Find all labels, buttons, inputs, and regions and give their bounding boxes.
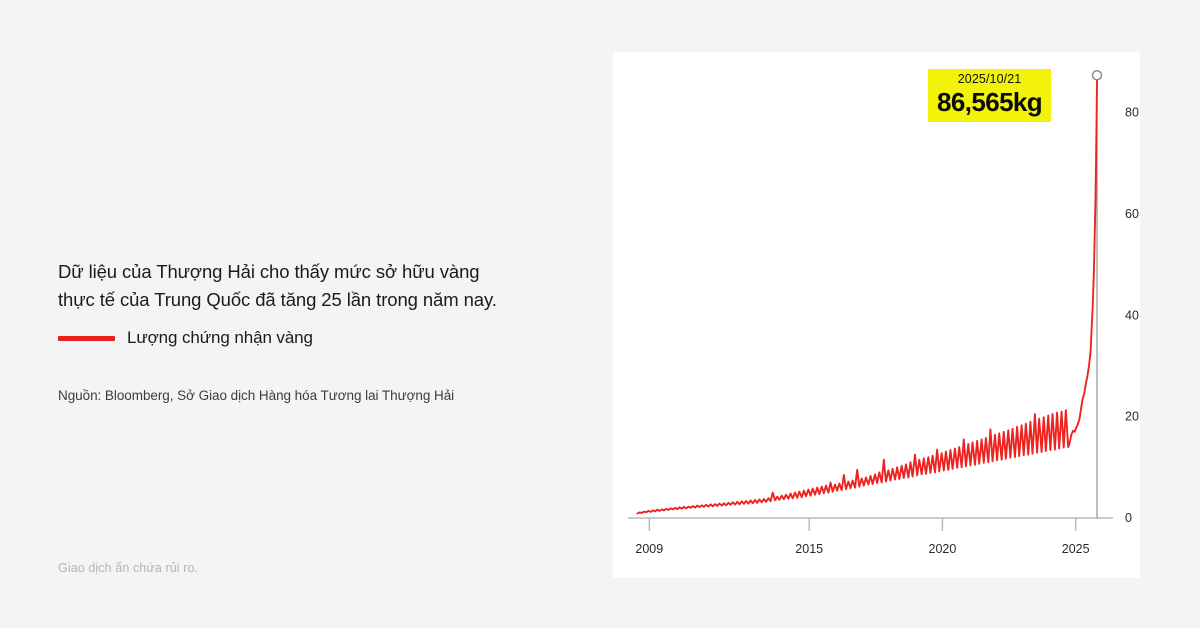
y-axis-tick-label: 40,000 xyxy=(1125,308,1140,322)
x-axis-tick-label: 2020 xyxy=(929,542,957,556)
series-gold-certificates xyxy=(637,79,1097,513)
headline-line-1: Dữ liệu của Thượng Hải cho thấy mức sở h… xyxy=(58,258,588,286)
y-axis-labels: 80,000kg60,00040,00020,0000 xyxy=(1125,106,1140,525)
chart-legend: Lượng chứng nhận vàng xyxy=(58,328,313,348)
x-axis-tick-label: 2009 xyxy=(635,542,663,556)
text-column: Dữ liệu của Thượng Hải cho thấy mức sở h… xyxy=(58,0,598,628)
legend-swatch-icon xyxy=(58,336,115,341)
chart-panel: 2009201520202025 80,000kg60,00040,00020,… xyxy=(613,52,1140,578)
latest-data-point-marker xyxy=(1093,71,1102,80)
x-axis-tick-label: 2015 xyxy=(795,542,823,556)
page-title: Dữ liệu của Thượng Hải cho thấy mức sở h… xyxy=(58,258,588,314)
x-axis-ticks xyxy=(649,518,1075,531)
y-axis-tick-label: 0 xyxy=(1125,511,1132,525)
y-axis-tick-label: 20,000 xyxy=(1125,410,1140,424)
line-chart: 2009201520202025 80,000kg60,00040,00020,… xyxy=(613,52,1140,578)
y-axis-tick-label: 80,000kg xyxy=(1125,106,1140,120)
headline-line-2: thực tế của Trung Quốc đã tăng 25 lần tr… xyxy=(58,286,588,314)
callout-value: 86,565kg xyxy=(937,89,1042,115)
x-axis-tick-label: 2025 xyxy=(1062,542,1090,556)
risk-disclaimer: Giao dịch ẩn chứa rủi ro. xyxy=(58,561,198,575)
y-axis-tick-label: 60,000 xyxy=(1125,207,1140,221)
legend-item-label: Lượng chứng nhận vàng xyxy=(127,328,313,348)
infographic-root: Dữ liệu của Thượng Hải cho thấy mức sở h… xyxy=(0,0,1200,628)
latest-value-callout: 2025/10/21 86,565kg xyxy=(928,69,1051,122)
x-axis-labels: 2009201520202025 xyxy=(635,542,1089,556)
callout-date: 2025/10/21 xyxy=(937,73,1042,86)
source-note: Nguồn: Bloomberg, Sở Giao dịch Hàng hóa … xyxy=(58,388,454,403)
